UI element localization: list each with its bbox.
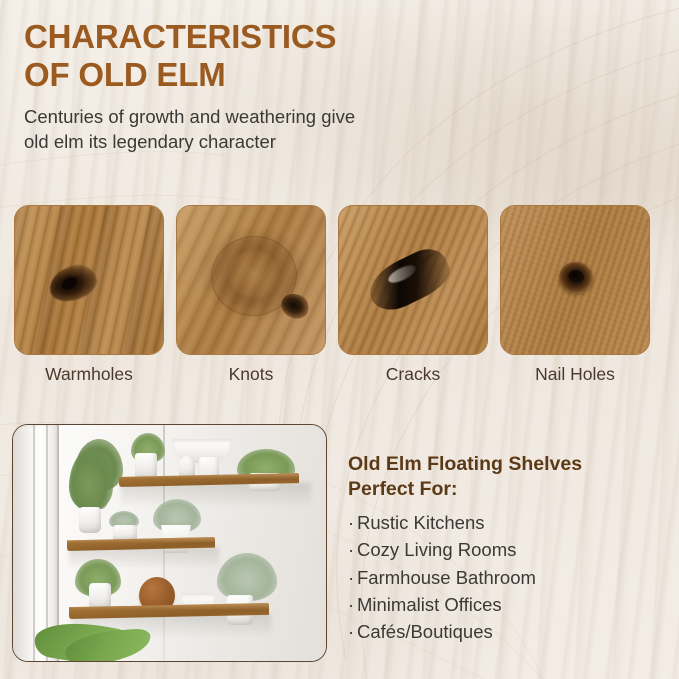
ceramic-pot bbox=[79, 507, 101, 533]
bullet-dot-icon: · bbox=[348, 591, 357, 618]
door-frame-line bbox=[33, 425, 35, 662]
bullet-dot-icon: · bbox=[348, 618, 357, 645]
usecase-list-item: ·Farmhouse Bathroom bbox=[348, 564, 668, 591]
usecase-block: Old Elm Floating Shelves Perfect For: ·R… bbox=[348, 452, 668, 646]
infographic-page: CHARACTERISTICS OF OLD ELM Centuries of … bbox=[0, 0, 679, 679]
usecase-item-label: Rustic Kitchens bbox=[357, 512, 485, 533]
characteristic-card-knots: Knots bbox=[176, 205, 326, 385]
ceramic-pot bbox=[135, 453, 157, 479]
bullet-dot-icon: · bbox=[348, 536, 357, 563]
product-photo bbox=[12, 424, 327, 662]
bullet-dot-icon: · bbox=[348, 509, 357, 536]
cracks-wood-image bbox=[338, 205, 488, 355]
nail-holes-wood-image bbox=[500, 205, 650, 355]
characteristic-label: Knots bbox=[176, 364, 326, 385]
usecase-list: ·Rustic Kitchens·Cozy Living Rooms·Farmh… bbox=[348, 509, 668, 646]
usecase-item-label: Cafés/Boutiques bbox=[357, 621, 493, 642]
usecase-list-item: ·Rustic Kitchens bbox=[348, 509, 668, 536]
warmholes-wood-image bbox=[14, 205, 164, 355]
ceramic-pot bbox=[113, 525, 137, 541]
characteristic-label: Cracks bbox=[338, 364, 488, 385]
usecase-item-label: Minimalist Offices bbox=[357, 594, 502, 615]
usecase-title: Old Elm Floating Shelves Perfect For: bbox=[348, 452, 668, 502]
page-title: CHARACTERISTICS OF OLD ELM bbox=[24, 18, 564, 95]
header: CHARACTERISTICS OF OLD ELM Centuries of … bbox=[24, 18, 564, 155]
usecase-list-item: ·Cozy Living Rooms bbox=[348, 536, 668, 563]
characteristic-card-cracks: Cracks bbox=[338, 205, 488, 385]
page-subtitle: Centuries of growth and weathering give … bbox=[24, 104, 564, 155]
ceramic-pot bbox=[89, 583, 111, 609]
characteristic-card-nail-holes: Nail Holes bbox=[500, 205, 650, 385]
characteristic-card-warmholes: Warmholes bbox=[14, 205, 164, 385]
knots-wood-image bbox=[176, 205, 326, 355]
ceramic-vase bbox=[179, 456, 195, 478]
usecase-item-label: Cozy Living Rooms bbox=[357, 539, 516, 560]
bullet-dot-icon: · bbox=[348, 564, 357, 591]
characteristic-label: Nail Holes bbox=[500, 364, 650, 385]
characteristics-card-row: Warmholes Knots Cracks Nail Holes bbox=[14, 205, 665, 385]
usecase-item-label: Farmhouse Bathroom bbox=[357, 567, 536, 588]
characteristic-label: Warmholes bbox=[14, 364, 164, 385]
usecase-list-item: ·Minimalist Offices bbox=[348, 591, 668, 618]
product-photo-scene bbox=[13, 425, 326, 661]
usecase-list-item: ·Cafés/Boutiques bbox=[348, 618, 668, 645]
